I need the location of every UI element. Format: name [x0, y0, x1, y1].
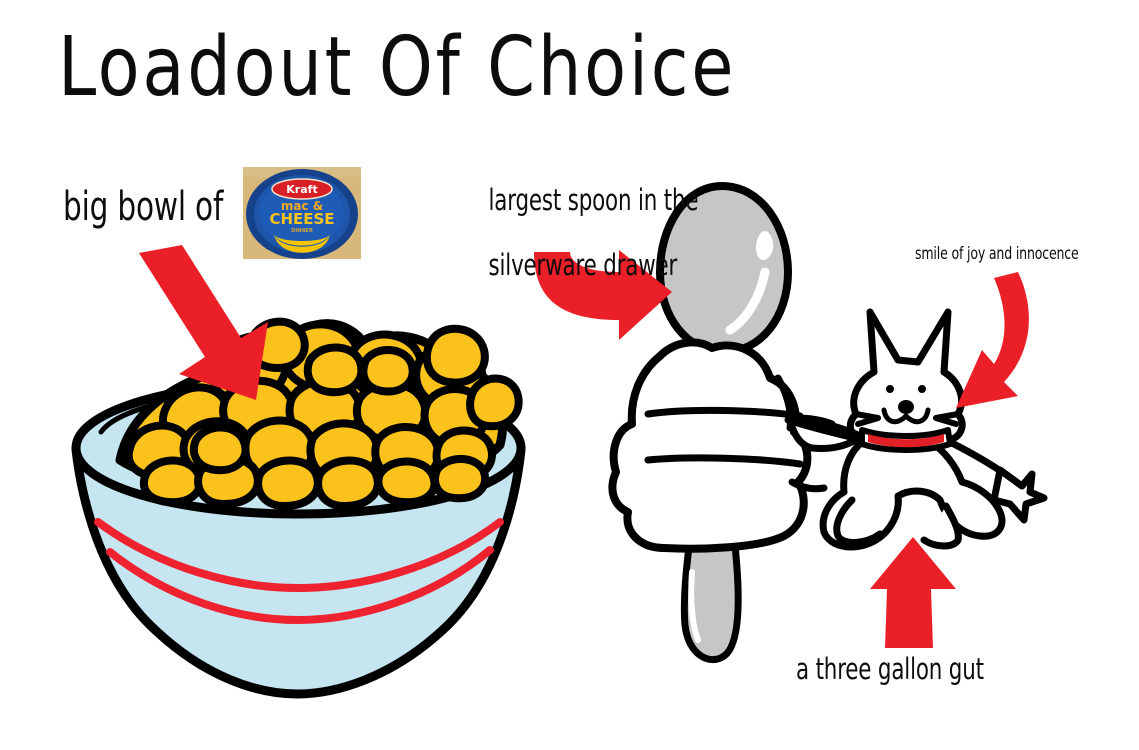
kraft-dinner-text: DINNER — [291, 228, 313, 234]
label-smile-of-joy: smile of joy and innocence — [915, 245, 1079, 264]
bowl-of-mac-and-cheese — [76, 322, 521, 694]
cat-eye — [918, 385, 926, 393]
macaroni-piece — [144, 461, 200, 503]
kraft-label-svg: Kraft mac & CHEESE DINNER — [243, 167, 361, 259]
macaroni-piece — [435, 459, 485, 498]
knuckle-crease — [792, 482, 824, 489]
macaroni-piece — [378, 461, 434, 502]
macaroni-piece — [258, 461, 318, 507]
macaroni-piece — [308, 347, 362, 392]
fist — [612, 342, 807, 548]
macaroni-piece — [427, 329, 485, 383]
cat-right-leg — [924, 506, 958, 546]
label-spoon-line2: silverware drawer — [489, 248, 678, 282]
label-big-bowl-of: big bowl of — [63, 185, 223, 230]
macaroni-pile — [120, 322, 519, 506]
macaroni-piece — [363, 350, 412, 391]
macaroni-piece — [194, 427, 246, 470]
page-title: Loadout Of Choice — [58, 22, 736, 114]
macaroni-piece — [318, 461, 378, 507]
cat-nose — [898, 400, 914, 414]
kraft-mac-and-cheese-image: Kraft mac & CHEESE DINNER — [243, 167, 361, 259]
kraft-brand-text: Kraft — [286, 183, 317, 196]
kraft-cheese-text: CHEESE — [269, 210, 334, 228]
arrow-to-smile-icon — [956, 272, 1029, 408]
label-three-gallon-gut: a three gallon gut — [796, 653, 984, 685]
macaroni-piece — [470, 379, 519, 427]
label-largest-spoon: largest spoon in the silverware drawer — [462, 152, 698, 314]
cat-eye — [886, 385, 894, 393]
label-spoon-line1: largest spoon in the — [489, 183, 699, 217]
arrow-to-bowl-icon — [139, 245, 268, 400]
meme-canvas: Kraft mac & CHEESE DINNER Loadout Of Cho… — [0, 0, 1139, 750]
arrow-to-gut-icon — [870, 537, 956, 648]
